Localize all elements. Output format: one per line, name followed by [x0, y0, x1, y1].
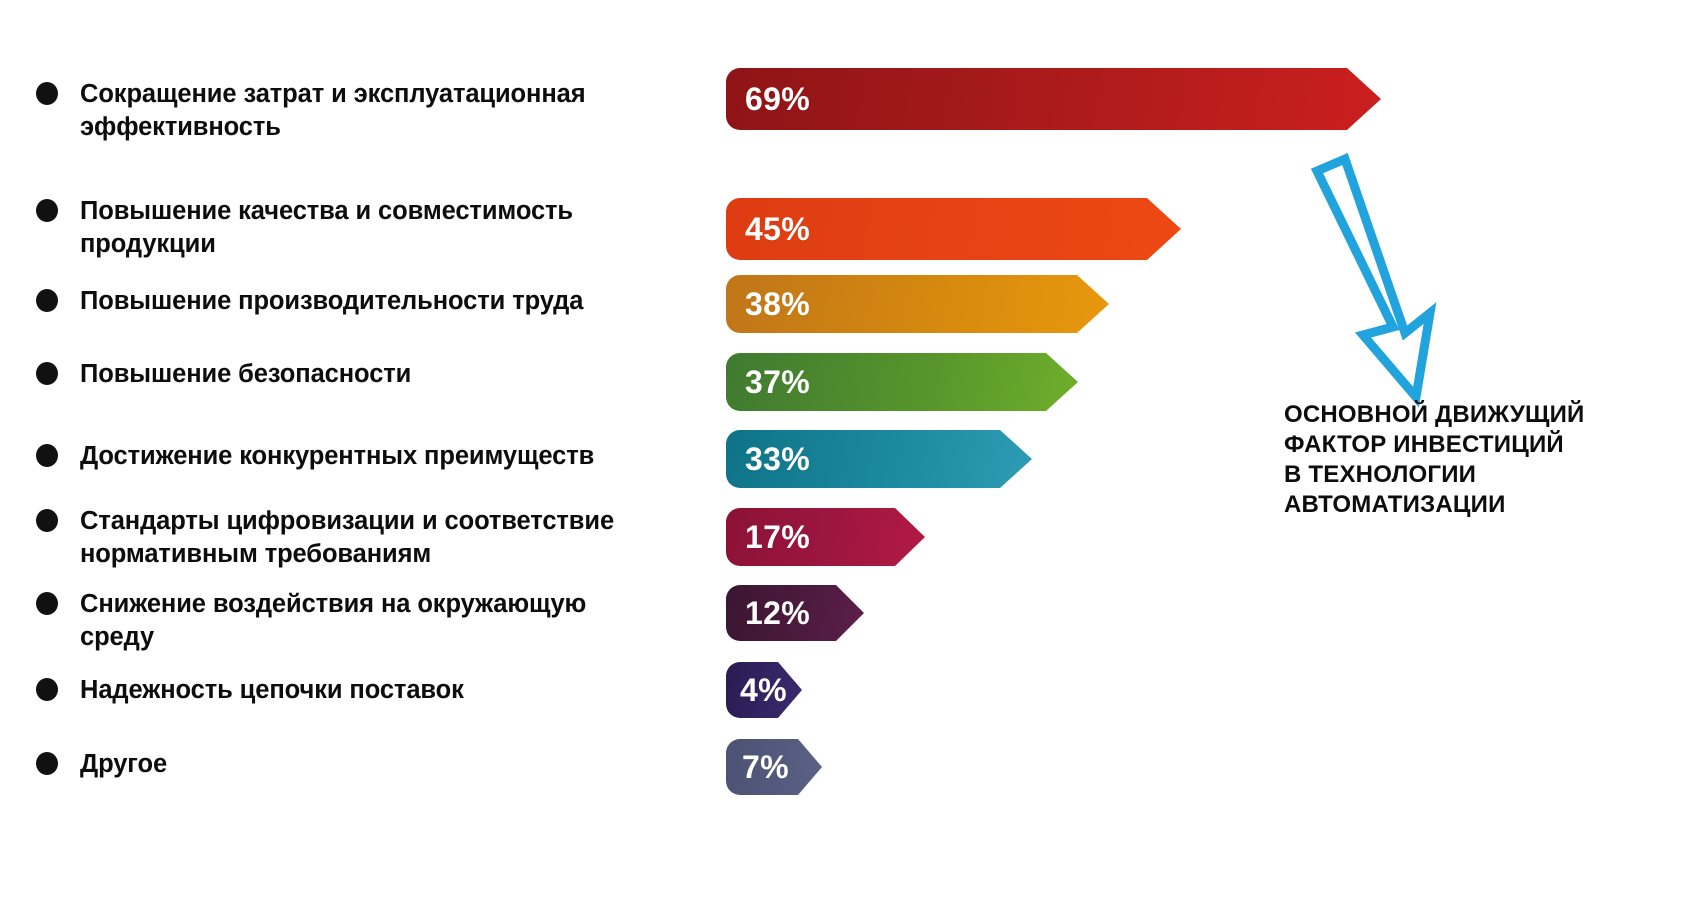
bar-12: 12%: [726, 585, 864, 641]
bar-fill: 37%: [726, 353, 1078, 411]
list-item-label: Другое: [80, 748, 167, 781]
bullet-icon: [36, 592, 58, 615]
list-item-label: Снижение воздействия на окружающую среду: [80, 588, 586, 654]
bar-value-label: 33%: [745, 441, 810, 478]
bar-value-label: 12%: [745, 595, 810, 632]
list-item: Снижение воздействия на окружающую среду: [36, 588, 586, 654]
list-item-label: Повышение безопасности: [80, 358, 411, 391]
bullet-icon: [36, 509, 58, 532]
infographic-canvas: Сокращение затрат и эксплуатационная эфф…: [0, 0, 1696, 920]
bar-fill: 45%: [726, 198, 1181, 260]
list-item: Повышение производительности труда: [36, 285, 583, 318]
list-item-label: Сокращение затрат и эксплуатационная эфф…: [80, 78, 586, 144]
list-item: Надежность цепочки поставок: [36, 674, 464, 707]
bar-fill: 38%: [726, 275, 1109, 333]
bar-value-label: 69%: [745, 81, 810, 118]
list-item-label: Повышение качества и совместимость проду…: [80, 195, 573, 261]
bar-value-label: 38%: [745, 286, 810, 323]
bullet-icon: [36, 444, 58, 467]
bar-value-label: 37%: [745, 364, 810, 401]
list-item: Повышение качества и совместимость проду…: [36, 195, 573, 261]
bullet-icon: [36, 199, 58, 222]
list-item: Стандарты цифровизации и соответствие но…: [36, 505, 614, 571]
bar-value-label: 7%: [742, 749, 789, 786]
list-item-label: Достижение конкурентных преимуществ: [80, 440, 594, 473]
bar-37: 37%: [726, 353, 1078, 411]
bar-fill: 33%: [726, 430, 1032, 488]
bar-33: 33%: [726, 430, 1032, 488]
bar-38: 38%: [726, 275, 1109, 333]
cyan-arrow-icon: [1285, 145, 1475, 410]
bar-fill: 69%: [726, 68, 1381, 130]
bar-7: 7%: [726, 739, 822, 795]
list-item: Достижение конкурентных преимуществ: [36, 440, 594, 473]
list-item: Повышение безопасности: [36, 358, 411, 391]
bullet-icon: [36, 678, 58, 701]
bar-fill: 17%: [726, 508, 925, 566]
bar-value-label: 4%: [740, 672, 787, 709]
list-item: Сокращение затрат и эксплуатационная эфф…: [36, 78, 586, 144]
bar-value-label: 17%: [745, 519, 810, 556]
bullet-icon: [36, 362, 58, 385]
annotation-text: ОСНОВНОЙ ДВИЖУЩИЙ ФАКТОР ИНВЕСТИЦИЙ В ТЕ…: [1284, 400, 1664, 520]
list-item-label: Надежность цепочки поставок: [80, 674, 464, 707]
bar-fill: 4%: [726, 662, 802, 718]
list-item: Другое: [36, 748, 167, 781]
bullet-icon: [36, 752, 58, 775]
bar-17: 17%: [726, 508, 925, 566]
bullet-icon: [36, 82, 58, 105]
bar-fill: 7%: [726, 739, 822, 795]
list-item-label: Повышение производительности труда: [80, 285, 583, 318]
bar-45: 45%: [726, 198, 1181, 260]
bar-fill: 12%: [726, 585, 864, 641]
bar-4: 4%: [726, 662, 802, 718]
bar-69: 69%: [726, 68, 1381, 130]
list-item-label: Стандарты цифровизации и соответствие но…: [80, 505, 614, 571]
bullet-icon: [36, 289, 58, 312]
bar-value-label: 45%: [745, 211, 810, 248]
